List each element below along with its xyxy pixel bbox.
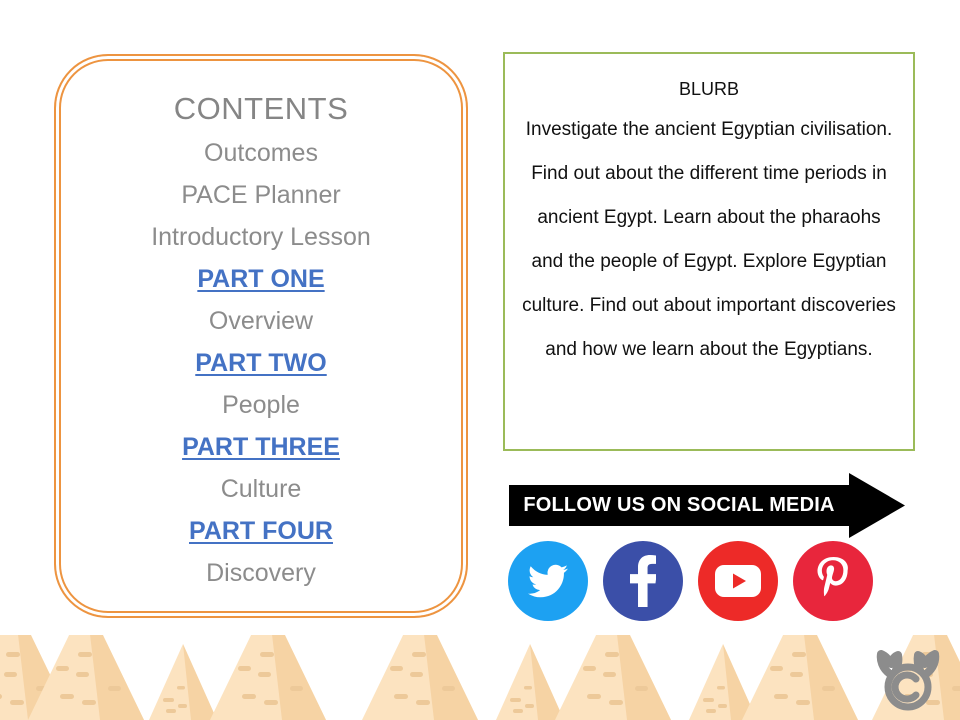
copyright-antlers-icon	[862, 644, 954, 718]
blurb-title: BLURB	[515, 70, 903, 108]
banner-arrow-shape	[509, 473, 905, 538]
contents-item-introductory-lesson[interactable]: Introductory Lesson	[151, 216, 371, 258]
contents-item-overview[interactable]: Overview	[209, 300, 313, 342]
twitter-icon[interactable]	[508, 541, 588, 621]
twitter-bird-glyph	[525, 561, 571, 601]
page-title: CONTENTS	[174, 86, 349, 132]
pyramid-band-graphic	[0, 635, 960, 720]
contents-item-culture[interactable]: Culture	[221, 468, 302, 510]
youtube-play-glyph	[713, 563, 763, 599]
contents-panel: CONTENTS Outcomes PACE Planner Introduct…	[54, 54, 468, 618]
watermark-logo	[862, 644, 954, 718]
contents-item-outcomes[interactable]: Outcomes	[204, 132, 318, 174]
contents-link-part-three[interactable]: PART THREE	[182, 426, 340, 468]
youtube-icon[interactable]	[698, 541, 778, 621]
pinterest-icon[interactable]	[793, 541, 873, 621]
contents-item-discovery[interactable]: Discovery	[206, 552, 316, 594]
blurb-text: Investigate the ancient Egyptian civilis…	[515, 108, 903, 372]
contents-link-part-four[interactable]: PART FOUR	[189, 510, 333, 552]
social-media-banner: FOLLOW US ON SOCIAL MEDIA	[509, 473, 905, 538]
contents-item-pace-planner[interactable]: PACE Planner	[181, 174, 340, 216]
pyramid-footer	[0, 635, 960, 720]
contents-link-part-one[interactable]: PART ONE	[197, 258, 324, 300]
contents-list: CONTENTS Outcomes PACE Planner Introduct…	[56, 56, 466, 616]
social-icons-row	[508, 539, 898, 623]
contents-link-part-two[interactable]: PART TWO	[195, 342, 326, 384]
blurb-box: BLURB Investigate the ancient Egyptian c…	[503, 52, 915, 451]
pinterest-p-glyph	[815, 557, 851, 605]
facebook-icon[interactable]	[603, 541, 683, 621]
facebook-f-glyph	[630, 555, 656, 607]
contents-item-people[interactable]: People	[222, 384, 300, 426]
